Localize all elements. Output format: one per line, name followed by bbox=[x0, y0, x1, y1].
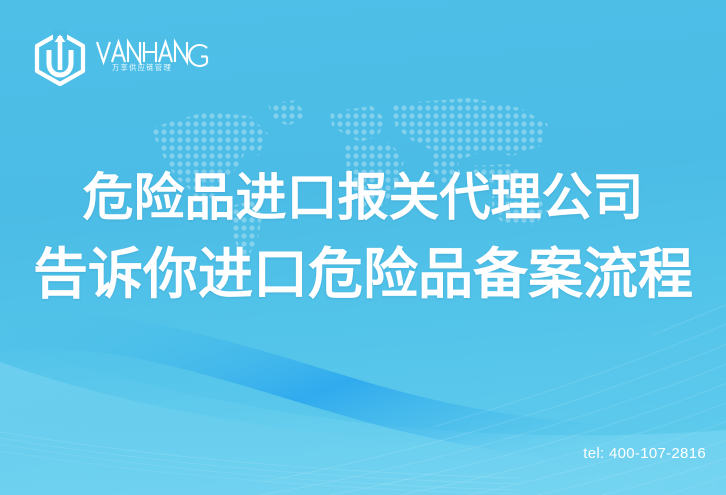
headline-line-1: 危险品进口报关代理公司 bbox=[0, 172, 726, 223]
brand-wordmark: 万享供应链管理 bbox=[95, 36, 213, 80]
contact-phone[interactable]: tel: 400-107-2816 bbox=[583, 445, 706, 462]
wordmark-subtitle-cn: 万享供应链管理 bbox=[112, 63, 172, 72]
hexagon-u-logo-icon bbox=[33, 30, 87, 86]
page-title: 危险品进口报关代理公司 告诉你进口危险品备案流程 bbox=[0, 172, 726, 302]
brand-logo[interactable]: 万享供应链管理 bbox=[33, 29, 218, 87]
promo-banner: 万享供应链管理 危险品进口报关代理公司 告诉你进口危险品备案流程 tel: 40… bbox=[0, 0, 726, 495]
headline-line-2: 告诉你进口危险品备案流程 bbox=[0, 247, 726, 302]
